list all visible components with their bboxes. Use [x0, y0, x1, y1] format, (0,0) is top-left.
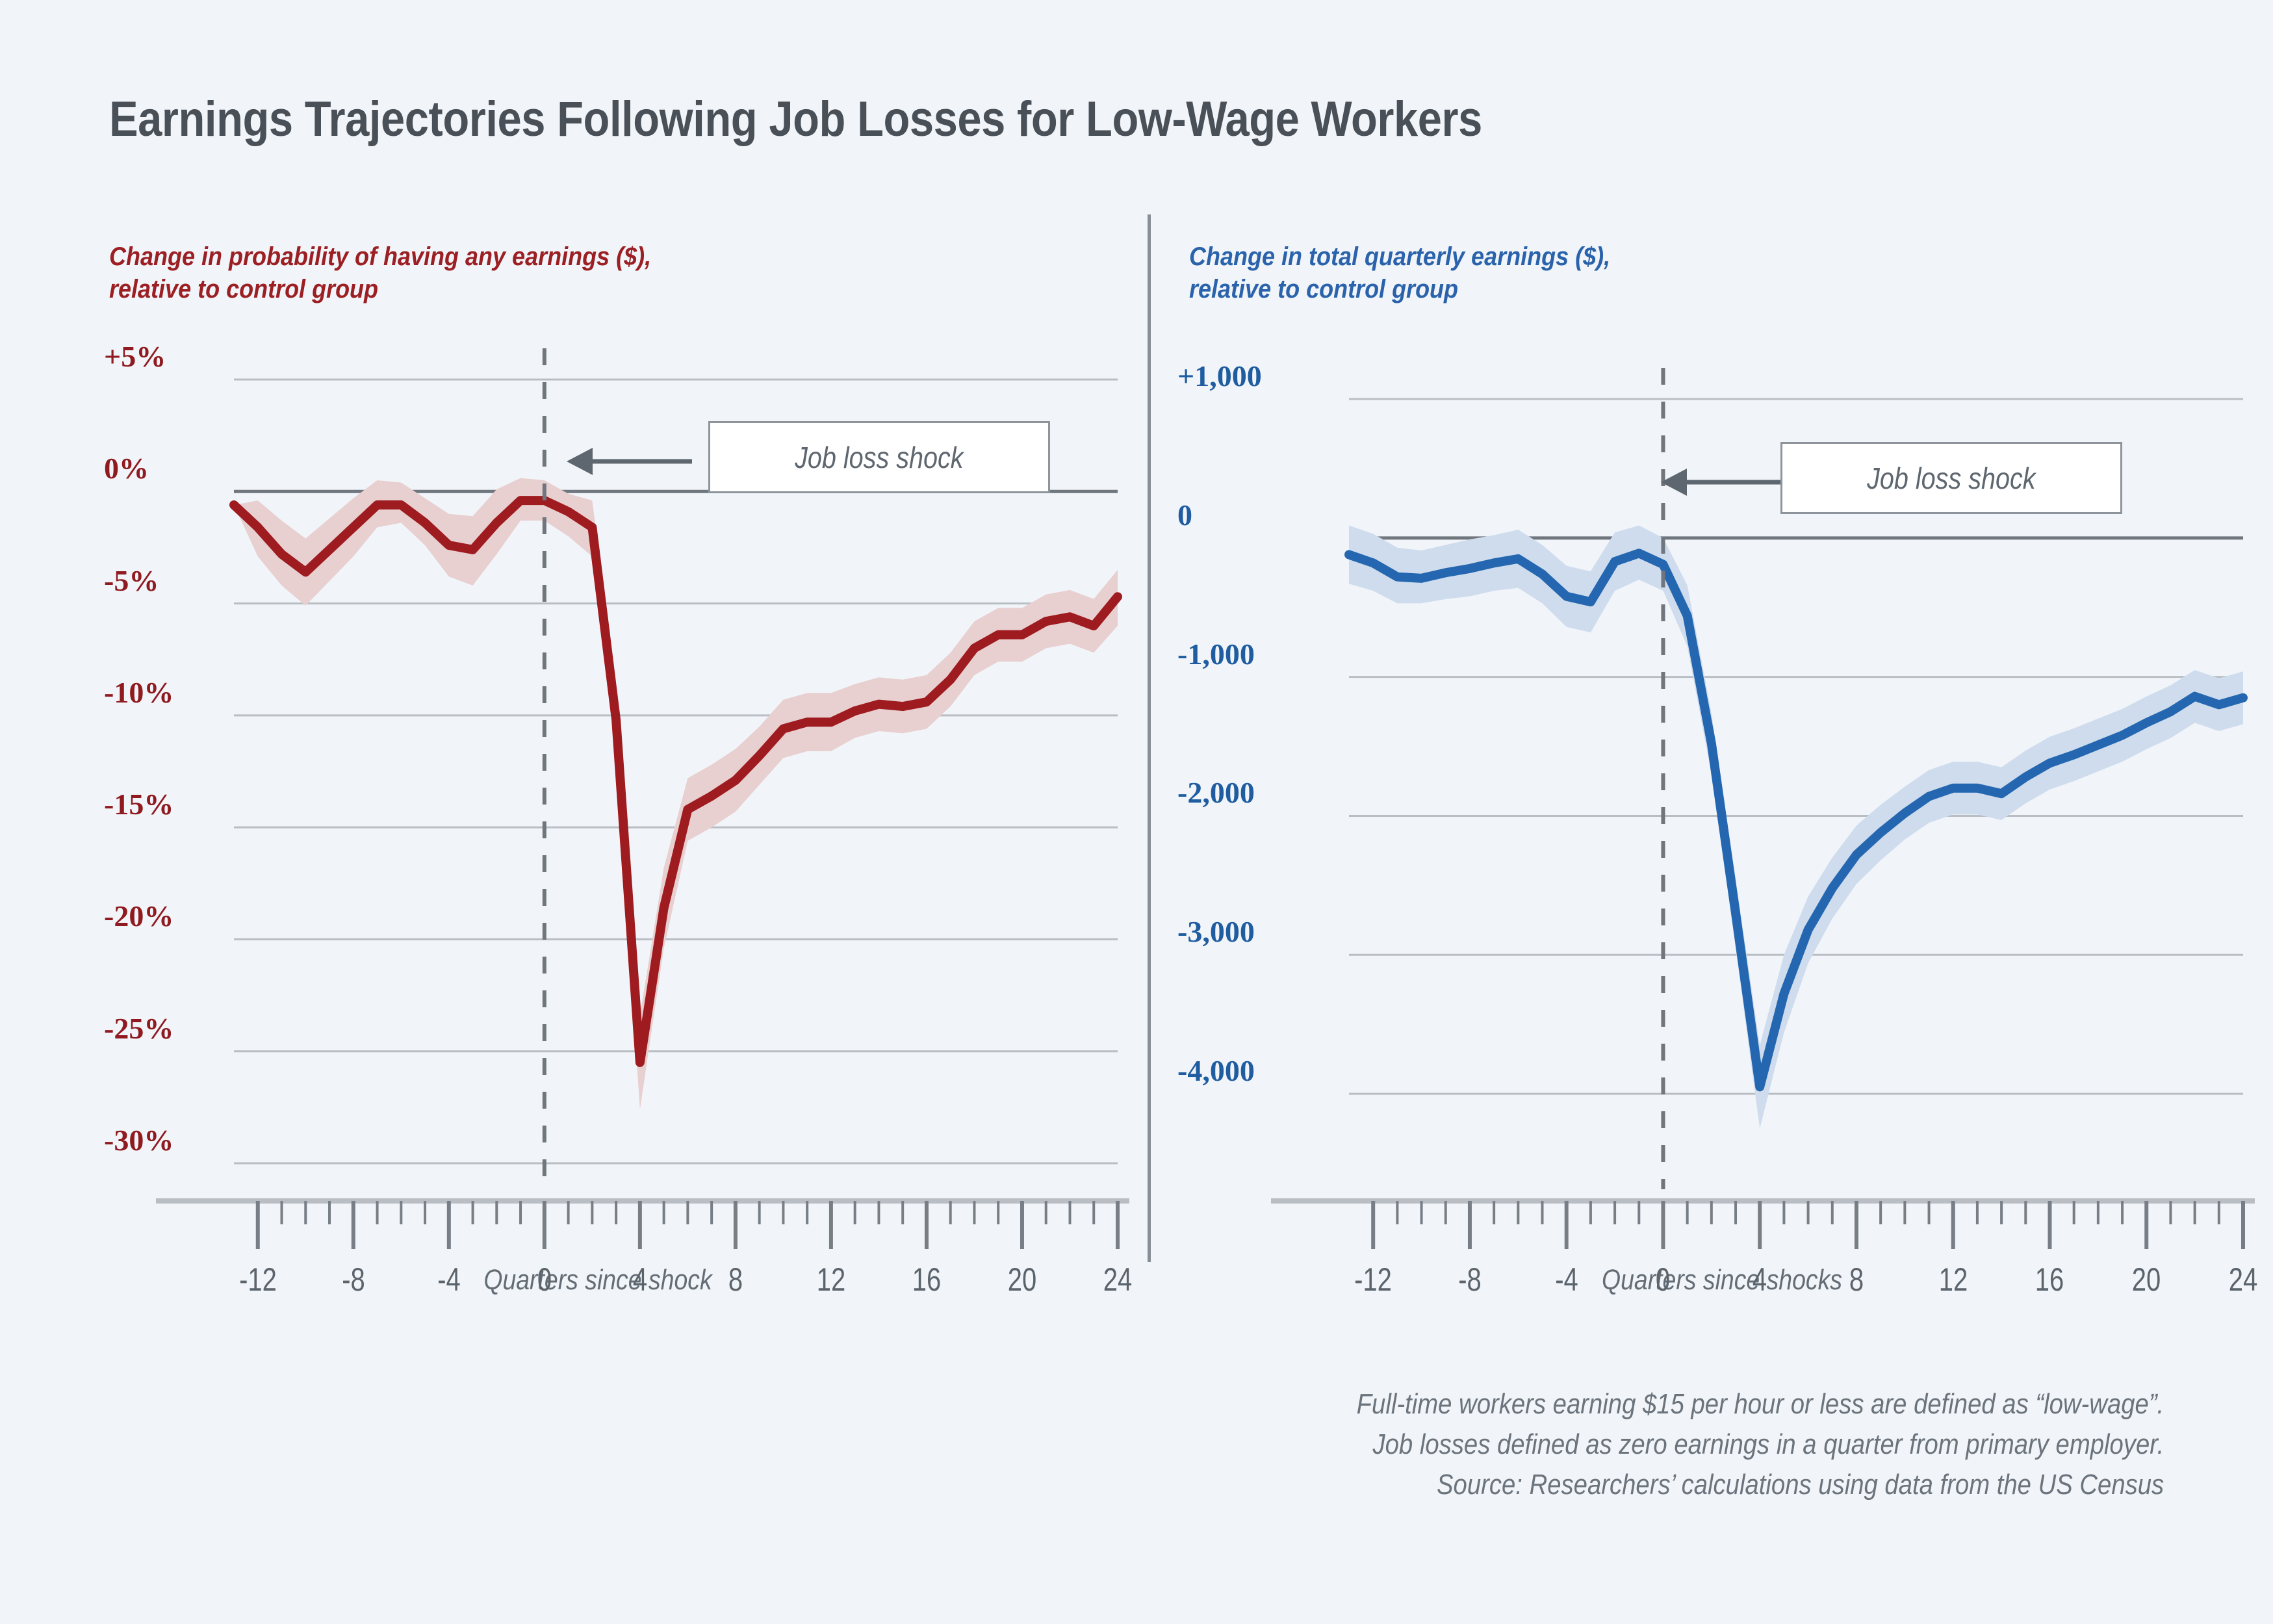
x-tick-label: 8 [1810, 1261, 1903, 1298]
arrow-left-head-icon [567, 448, 593, 475]
chart-left [0, 0, 1157, 1306]
y-tick-label: -1,000 [1177, 637, 1255, 671]
x-tick-label: -4 [1520, 1261, 1613, 1298]
annotation-box-left: Job loss shock [708, 421, 1050, 493]
y-tick-label: 0 [1177, 498, 1192, 532]
footnote-line-3: Source: Researchers’ calculations using … [1356, 1465, 2164, 1505]
footnote-line-2: Job losses defined as zero earnings in a… [1356, 1424, 2164, 1465]
y-tick-label: -2,000 [1177, 775, 1255, 810]
x-tick-label: 20 [975, 1261, 1069, 1298]
y-tick-label: -10% [104, 675, 173, 710]
x-tick-label: 12 [784, 1261, 878, 1298]
confidence-band [234, 478, 1118, 1110]
annotation-box-right: Job loss shock [1780, 442, 2122, 514]
y-tick-label: 0% [104, 451, 149, 485]
annotation-label-left: Job loss shock [795, 440, 963, 475]
y-tick-label: -5% [104, 563, 159, 598]
confidence-band [1349, 526, 2243, 1129]
x-tick-label: -8 [307, 1261, 400, 1298]
x-tick-label: -4 [402, 1261, 496, 1298]
y-tick-label: -15% [104, 787, 173, 821]
x-tick-label: -12 [1326, 1261, 1420, 1298]
annotation-label-right: Job loss shock [1867, 461, 2035, 496]
y-tick-label: -4,000 [1177, 1053, 1255, 1088]
x-tick-label: 24 [1071, 1261, 1164, 1298]
y-tick-label: +1,000 [1177, 359, 1262, 393]
footnote-line-1: Full-time workers earning $15 per hour o… [1356, 1384, 2164, 1424]
x-tick-label: 16 [880, 1261, 973, 1298]
data-series-line [234, 500, 1118, 1063]
y-tick-label: -25% [104, 1011, 173, 1046]
x-tick-label: 0 [1616, 1261, 1710, 1298]
x-tick-label: 16 [2003, 1261, 2096, 1298]
x-tick-label: 4 [593, 1261, 687, 1298]
y-tick-label: -30% [104, 1123, 173, 1157]
x-tick-label: 0 [498, 1261, 591, 1298]
y-tick-label: -20% [104, 899, 173, 933]
x-tick-label: 4 [1713, 1261, 1806, 1298]
x-tick-label: 8 [689, 1261, 782, 1298]
x-tick-label: -8 [1423, 1261, 1517, 1298]
x-tick-label: -12 [211, 1261, 305, 1298]
chart-right [1148, 0, 2273, 1306]
x-tick-label: 20 [2100, 1261, 2193, 1298]
y-tick-label: -3,000 [1177, 914, 1255, 949]
x-tick-label: 24 [2196, 1261, 2273, 1298]
footnotes: Full-time workers earning $15 per hour o… [1236, 1384, 2164, 1505]
data-series-line [1349, 553, 2243, 1087]
y-tick-label: +5% [104, 339, 166, 374]
x-tick-label: 12 [1907, 1261, 2000, 1298]
